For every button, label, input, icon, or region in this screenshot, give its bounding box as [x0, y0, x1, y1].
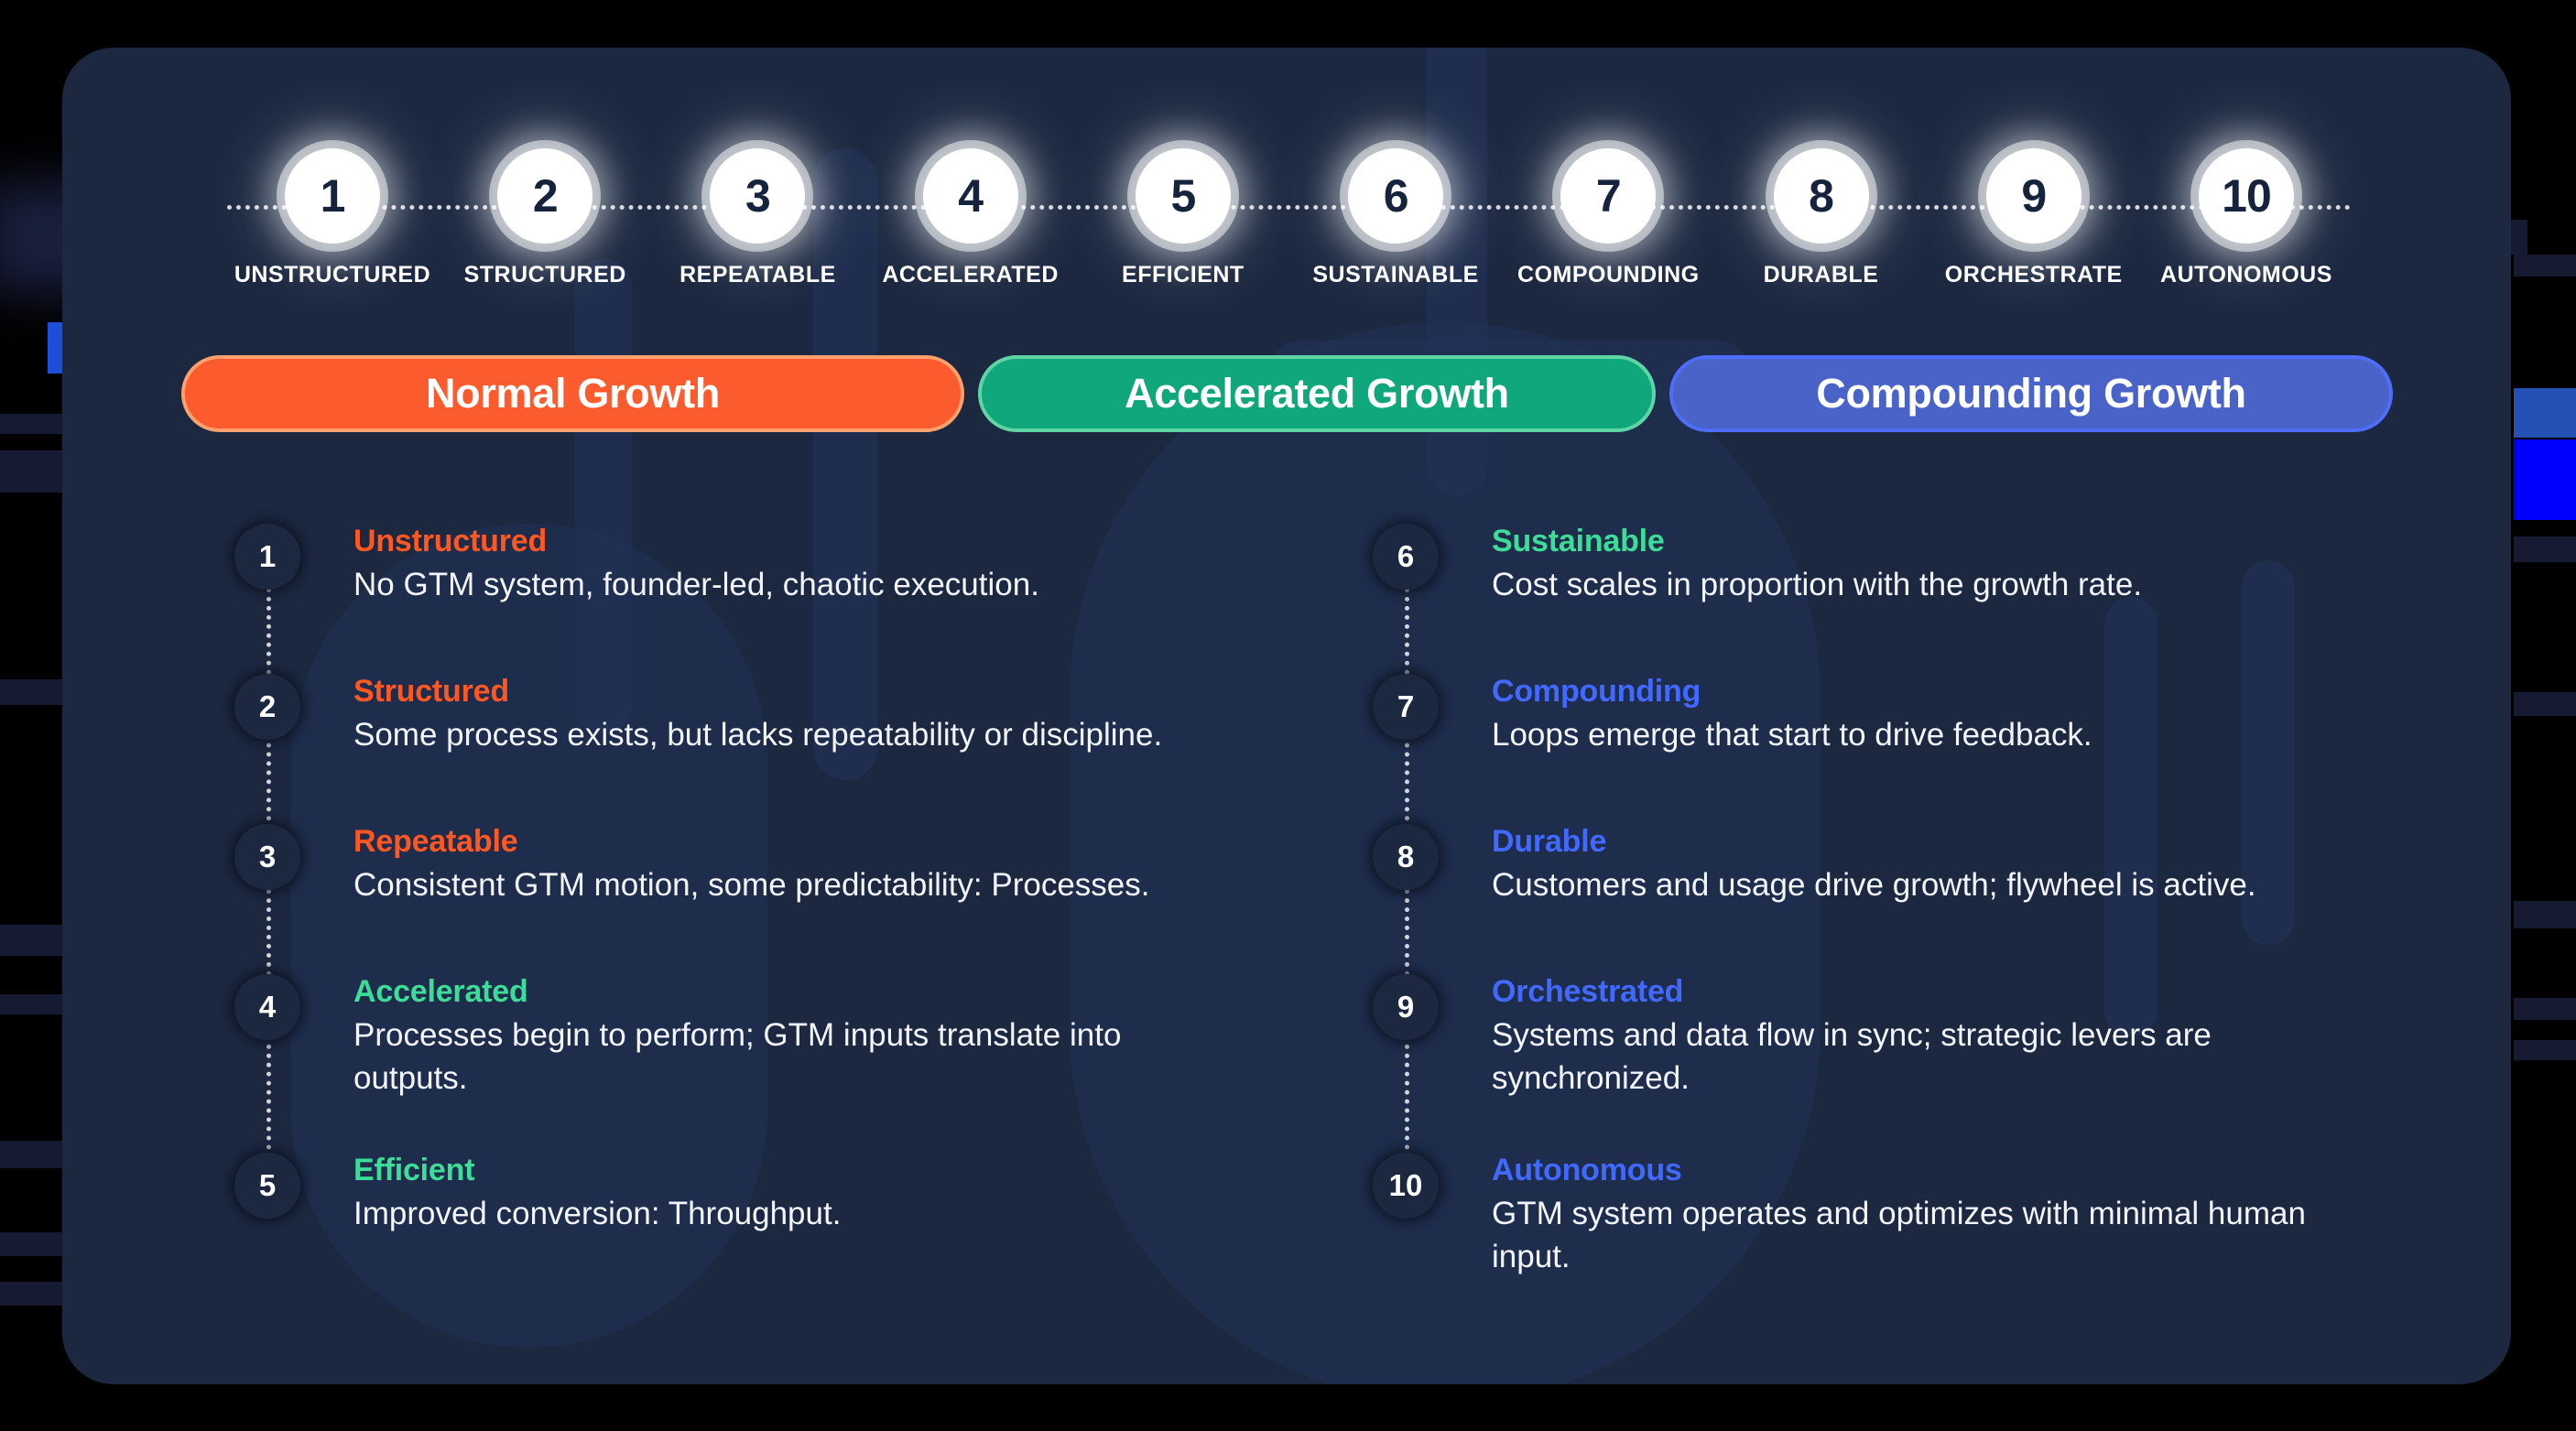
stepper-step-1[interactable]: 1 UNSTRUCTURED: [227, 148, 438, 288]
stepper-step-4[interactable]: 4 ACCELERATED: [865, 148, 1076, 288]
list-item[interactable]: 6 Sustainable Cost scales in proportion …: [1373, 524, 2374, 621]
item-number-badge: 5: [234, 1153, 300, 1219]
item-title: Autonomous: [1492, 1153, 2374, 1188]
bg-band: [0, 1141, 62, 1168]
bg-band: [2514, 901, 2576, 928]
stepper-number-badge: 1: [285, 148, 380, 244]
bg-band: [2514, 255, 2576, 276]
stepper-number-badge: 7: [1560, 148, 1656, 244]
list-item[interactable]: 4 Accelerated Processes begin to perform…: [234, 974, 1235, 1100]
bg-band: [2514, 1040, 2576, 1060]
item-number-badge: 2: [234, 674, 300, 740]
bg-band: [2514, 998, 2576, 1020]
roadmap-card: 1 UNSTRUCTURED 2 STRUCTURED 3 REPEATABLE…: [62, 48, 2511, 1384]
stepper-step-label: EFFICIENT: [1122, 262, 1245, 288]
bg-band: [0, 1282, 62, 1306]
stage-stepper: 1 UNSTRUCTURED 2 STRUCTURED 3 REPEATABLE…: [227, 148, 2352, 276]
item-description: Processes begin to perform; GTM inputs t…: [353, 1014, 1235, 1100]
bg-band: [0, 925, 62, 956]
item-description: Customers and usage drive growth; flywhe…: [1492, 864, 2256, 907]
item-title: Durable: [1492, 824, 2256, 860]
item-title: Efficient: [353, 1153, 841, 1188]
stepper-number-badge: 6: [1348, 148, 1443, 244]
phase-accelerated-growth[interactable]: Accelerated Growth: [978, 355, 1656, 432]
stepper-step-label: DURABLE: [1764, 262, 1879, 288]
item-number-badge: 1: [234, 524, 300, 590]
item-description: Consistent GTM motion, some predictabili…: [353, 864, 1149, 907]
bg-band: [0, 994, 62, 1014]
item-description: Improved conversion: Throughput.: [353, 1193, 841, 1236]
stepper-step-label: ORCHESTRATE: [1945, 262, 2123, 288]
item-title: Accelerated: [353, 974, 1235, 1010]
stepper-step-label: UNSTRUCTURED: [234, 262, 430, 288]
stepper-step-6[interactable]: 6 SUSTAINABLE: [1290, 148, 1501, 288]
stage-column-left: 1 Unstructured No GTM system, founder-le…: [234, 524, 1235, 1278]
stepper-step-label: AUTONOMOUS: [2160, 262, 2332, 288]
bg-band: [2514, 537, 2576, 562]
item-description: Some process exists, but lacks repeatabi…: [353, 714, 1162, 757]
list-item[interactable]: 7 Compounding Loops emerge that start to…: [1373, 674, 2374, 771]
stepper-step-label: STRUCTURED: [464, 262, 626, 288]
stepper-number-badge: 8: [1774, 148, 1869, 244]
bg-band: [0, 1232, 62, 1256]
bg-band: [0, 450, 62, 493]
list-item[interactable]: 3 Repeatable Consistent GTM motion, some…: [234, 824, 1235, 921]
list-item[interactable]: 8 Durable Customers and usage drive grow…: [1373, 824, 2374, 921]
item-number-badge: 9: [1373, 974, 1439, 1040]
item-description: Systems and data flow in sync; strategic…: [1492, 1014, 2374, 1100]
item-title: Structured: [353, 674, 1162, 710]
item-number-badge: 4: [234, 974, 300, 1040]
bg-band: [2514, 692, 2576, 716]
stepper-step-label: SUSTAINABLE: [1312, 262, 1478, 288]
item-title: Orchestrated: [1492, 974, 2374, 1010]
stepper-number-badge: 9: [1986, 148, 2081, 244]
stepper-step-label: ACCELERATED: [882, 262, 1059, 288]
stepper-step-7[interactable]: 7 COMPOUNDING: [1503, 148, 1713, 288]
item-description: Cost scales in proportion with the growt…: [1492, 564, 2142, 607]
list-item[interactable]: 9 Orchestrated Systems and data flow in …: [1373, 974, 2374, 1100]
item-title: Unstructured: [353, 524, 1039, 559]
item-number-badge: 6: [1373, 524, 1439, 590]
stepper-step-8[interactable]: 8 DURABLE: [1716, 148, 1927, 288]
stepper-steps: 1 UNSTRUCTURED 2 STRUCTURED 3 REPEATABLE…: [227, 148, 2352, 276]
stepper-step-2[interactable]: 2 STRUCTURED: [440, 148, 650, 288]
stepper-step-label: REPEATABLE: [679, 262, 836, 288]
item-number-badge: 8: [1373, 824, 1439, 890]
stepper-step-3[interactable]: 3 REPEATABLE: [652, 148, 863, 288]
bg-band: [0, 679, 62, 705]
item-number-badge: 10: [1373, 1153, 1439, 1219]
stage-detail-columns: 1 Unstructured No GTM system, founder-le…: [234, 524, 2374, 1278]
bg-accent-block-right-b: [2514, 439, 2576, 520]
stage-column-right: 6 Sustainable Cost scales in proportion …: [1373, 524, 2374, 1278]
growth-phase-bars: Normal Growth Accelerated Growth Compoun…: [181, 355, 2393, 432]
item-title: Sustainable: [1492, 524, 2142, 559]
stepper-number-badge: 4: [923, 148, 1018, 244]
list-item[interactable]: 10 Autonomous GTM system operates and op…: [1373, 1153, 2374, 1278]
item-description: GTM system operates and optimizes with m…: [1492, 1193, 2374, 1278]
phase-normal-growth[interactable]: Normal Growth: [181, 355, 964, 432]
stepper-step-5[interactable]: 5 EFFICIENT: [1078, 148, 1288, 288]
list-item[interactable]: 2 Structured Some process exists, but la…: [234, 674, 1235, 771]
item-number-badge: 7: [1373, 674, 1439, 740]
phase-compounding-growth[interactable]: Compounding Growth: [1669, 355, 2393, 432]
stepper-step-9[interactable]: 9 ORCHESTRATE: [1929, 148, 2139, 288]
bg-band: [0, 414, 62, 434]
stepper-step-label: COMPOUNDING: [1517, 262, 1700, 288]
list-item[interactable]: 5 Efficient Improved conversion: Through…: [234, 1153, 1235, 1250]
stepper-number-badge: 2: [497, 148, 592, 244]
stepper-number-badge: 10: [2199, 148, 2294, 244]
item-description: No GTM system, founder-led, chaotic exec…: [353, 564, 1039, 607]
bg-accent-block-right-a: [2514, 388, 2576, 438]
page-root: 1 UNSTRUCTURED 2 STRUCTURED 3 REPEATABLE…: [0, 0, 2576, 1431]
stepper-number-badge: 3: [710, 148, 805, 244]
item-title: Repeatable: [353, 824, 1149, 860]
item-description: Loops emerge that start to drive feedbac…: [1492, 714, 2092, 757]
stepper-number-badge: 5: [1136, 148, 1231, 244]
stepper-step-10[interactable]: 10 AUTONOMOUS: [2141, 148, 2352, 288]
item-title: Compounding: [1492, 674, 2092, 710]
item-number-badge: 3: [234, 824, 300, 890]
list-item[interactable]: 1 Unstructured No GTM system, founder-le…: [234, 524, 1235, 621]
